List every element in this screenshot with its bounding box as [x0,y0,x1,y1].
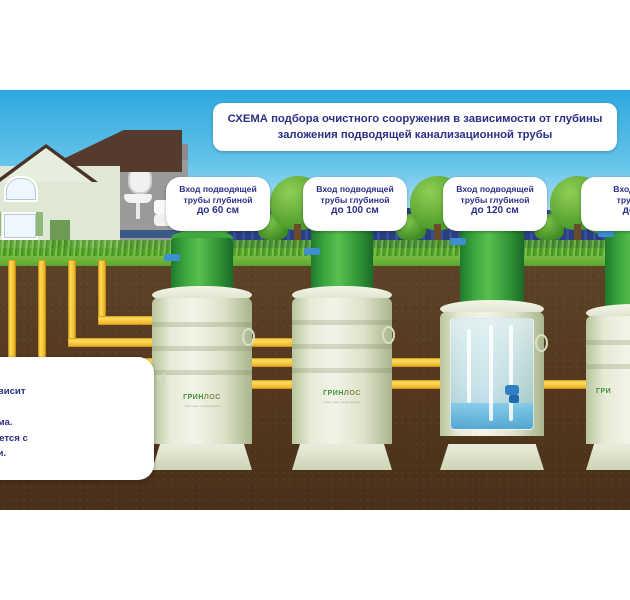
note-line-3: о сооружения от дома. [0,415,142,431]
tank-logo-sub: очистные сооружения [292,400,392,404]
tank-2: ГРИНЛОС очистные сооружения [292,220,392,470]
pipe-drop-2 [38,260,46,364]
callout-line-2: трубы глубиной [303,195,407,206]
tank-internal-tube-1 [467,329,471,403]
tank-base [292,444,392,470]
tank-body: ГРИ [586,316,630,444]
tank-logo-part2: ЛОС [204,394,221,401]
note-callout: ГРИНЛОС дводящей трубы зависит гистрали … [0,357,154,480]
tank-body: ГРИНЛОС очистные сооружения [152,298,252,444]
tank-rib [152,322,252,327]
callout-line-1: Вход подводящей [443,184,547,195]
tank-logo: ГРИ [586,388,630,395]
tank-rib [292,320,392,325]
tank-handle [382,326,395,344]
shutter-right [36,212,43,236]
tank-base [586,444,630,470]
pipe-drop-3 [68,260,76,344]
callout-depth-value: до 1 [581,205,630,218]
tank-rib [152,346,252,351]
sink-pedestal [136,203,140,219]
tank-body [440,312,544,436]
tank-base [152,444,252,470]
tank-rib [292,368,392,373]
title-line-2: заложения подводящей канализационной тру… [278,127,553,143]
tank-handle [242,328,255,346]
tank-rib [292,344,392,349]
callout-line-2: трубы глубиной [443,195,547,206]
bottom-whitespace [0,510,630,600]
tank-rib [586,340,630,345]
title-banner: СХЕМА подбора очистного сооружения в зав… [213,103,617,151]
tank-4: ГРИ [586,204,630,470]
window-lower [2,212,38,240]
tank-logo-part2: ЛОС [344,390,361,397]
note-pointer-icon [156,372,165,384]
callout-line-2: трубы г [581,195,630,206]
tank-inlet [450,238,466,245]
note-line-4: страль прокладывается с [0,431,142,447]
note-line-1: дводящей трубы зависит [0,384,142,400]
note-title: ГРИНЛОС [0,367,142,379]
title-line-1: СХЕМА подбора очистного сооружения в зав… [228,111,603,127]
callout-line-1: Вход под [581,184,630,195]
tank-1: ГРИНЛОС очистные сооружения [152,228,252,470]
tank-logo-sub: очистные сооружения [152,404,252,408]
tank-rib [152,370,252,375]
callout-line-1: Вход подводящей [303,184,407,195]
callout-depth-value: до 100 см [303,205,407,218]
tank-inlet [164,254,180,261]
callout-depth-120: Вход подводящей трубы глубиной до 120 см [443,177,547,231]
pipe-drop-4 [98,260,106,322]
tank-logo-part1: ГРИН [183,394,204,401]
window-arched [4,176,38,202]
callout-depth-value: до 60 см [166,205,270,218]
tank-base [440,444,544,470]
callout-depth-100: Вход подводящей трубы глубиной до 100 см [303,177,407,231]
tank-3 [440,212,544,470]
tank-internal-tube-2 [489,325,493,421]
tank-pump-body [509,395,519,403]
infographic-root: ГРИНЛОС очистные сооружения ГРИНЛОС очис… [0,0,630,600]
tank-pump [505,385,519,395]
sink-icon [124,194,152,203]
tank-logo-part1: ГРИН [323,390,344,397]
tank-body: ГРИНЛОС очистные сооружения [292,298,392,444]
tank-logo: ГРИНЛОС [292,390,392,397]
tank-internal-tube-3 [509,325,513,421]
tank-inlet [304,248,320,255]
callout-line-2: трубы глубиной [166,195,270,206]
tank-inlet [598,230,614,237]
tank-green-neck [311,230,373,294]
callout-depth-value: до 120 см [443,205,547,218]
tank-logo-part1: ГРИ [596,388,611,395]
note-line-2: гистрали из дома и [0,400,142,416]
tank-logo: ГРИНЛОС [152,394,252,401]
tank-cutaway-window [450,318,534,430]
shutter-left [0,212,1,236]
note-line-5: огонный магистрали. [0,446,142,462]
callout-line-1: Вход подводящей [166,184,270,195]
callout-depth-60: Вход подводящей трубы глубиной до 60 см [166,177,270,231]
tank-rib [586,364,630,369]
callout-depth-140: Вход под трубы г до 1 [581,177,630,231]
tank-handle [535,334,548,352]
tank-green-neck [460,222,524,308]
